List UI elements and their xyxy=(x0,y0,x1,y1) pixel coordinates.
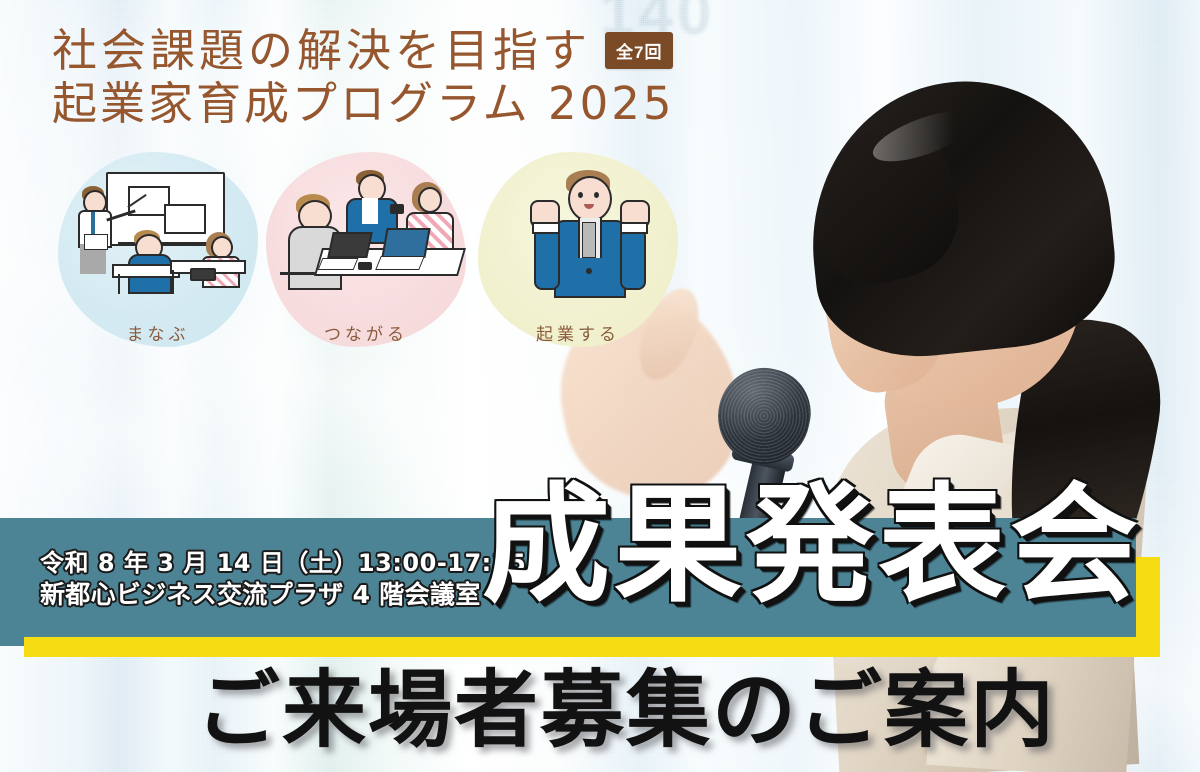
concept-caption-learn: まなぶ xyxy=(58,320,258,345)
sessions-count-badge: 全7回 xyxy=(605,32,673,69)
headline-line1: 社会課題の解決を目指す xyxy=(52,24,591,77)
concept-item-connect: つながる xyxy=(266,152,466,347)
poster-canvas: 140 社会課題の解決を目指す 全7回 起業家育成プログラム 2025 xyxy=(0,0,1200,772)
cheering-businessman-icon xyxy=(486,164,670,294)
concept-row: まなぶ xyxy=(58,152,698,352)
accent-yellow-bar xyxy=(24,637,1160,657)
event-venue: 新都心ビジネス交流プラザ 4 階会議室 xyxy=(40,579,460,610)
event-date: 令和 8 年 3 月 14 日（土）13:00-17:15 xyxy=(40,548,460,579)
event-details: 令和 8 年 3 月 14 日（土）13:00-17:15 新都心ビジネス交流プ… xyxy=(40,548,460,610)
classroom-lecture-icon xyxy=(66,164,250,294)
headline-block: 社会課題の解決を目指す 全7回 起業家育成プログラム 2025 xyxy=(52,24,732,130)
concept-caption-startup: 起業する xyxy=(478,320,678,345)
concept-caption-connect: つながる xyxy=(266,320,466,345)
sub-title: ご来場者募集のご案内 xyxy=(196,668,1056,752)
concept-item-learn: まなぶ xyxy=(58,152,258,347)
headline-line1-row: 社会課題の解決を目指す 全7回 xyxy=(52,24,732,77)
concept-item-startup: 起業する xyxy=(478,152,678,347)
main-title: 成果発表会 xyxy=(482,482,1142,610)
group-meeting-icon xyxy=(274,164,458,294)
headline-line2: 起業家育成プログラム 2025 xyxy=(52,77,732,130)
